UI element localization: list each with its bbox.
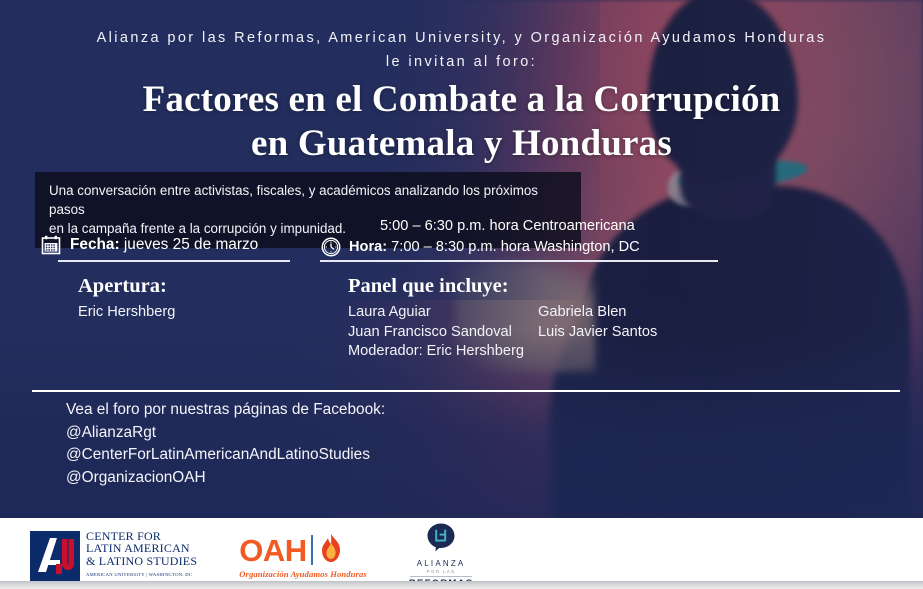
invitation-line-1: Alianza por las Reformas, American Unive… — [0, 26, 923, 50]
logo-alianza-reformas: ALIANZA POR LAS REFORMAS — [409, 522, 474, 589]
panelist: Luis Javier Santos — [538, 323, 718, 343]
facebook-handle-alianza[interactable]: @AlianzaRgt — [66, 422, 385, 445]
time-label: Hora: — [349, 239, 387, 255]
au-line-2: LATIN AMERICAN — [86, 542, 197, 555]
section-divider — [32, 390, 900, 392]
poster-content: Alianza por las Reformas, American Unive… — [0, 0, 923, 589]
au-tagline: AMERICAN UNIVERSITY | WASHINGTON, DC — [86, 569, 197, 582]
clock-icon — [320, 236, 342, 258]
apertura-speaker: Eric Hershberg — [78, 303, 175, 323]
invitation-line-2: le invitan al foro: — [0, 50, 923, 74]
panelist: Gabriela Blen — [538, 303, 718, 323]
sponsor-logos: CENTER FOR LATIN AMERICAN & LATINO STUDI… — [30, 522, 473, 589]
panel-moderator: Moderador: Eric Hershberg — [348, 342, 538, 362]
time-underline — [320, 260, 718, 262]
apertura-section: Apertura: Eric Hershberg — [78, 274, 175, 323]
event-title: Factores en el Combate a la Corrupción e… — [0, 78, 923, 166]
flame-icon — [318, 533, 344, 568]
facebook-intro: Vea el foro por nuestras páginas de Face… — [66, 399, 385, 422]
date-label: Fecha: — [70, 236, 120, 253]
apertura-heading: Apertura: — [78, 274, 175, 299]
date-underline — [58, 260, 290, 262]
date-block: Fecha: jueves 25 de marzo — [40, 234, 258, 256]
time-central: 5:00 – 6:30 p.m. hora Centroamericana — [320, 216, 740, 236]
speech-bubble-icon — [426, 522, 456, 557]
alianza-rule — [410, 576, 472, 577]
alianza-middle: POR LAS — [427, 569, 456, 574]
oah-subtitle: Organización Ayudamos Honduras — [239, 569, 367, 579]
panelist: Juan Francisco Sandoval — [348, 323, 538, 343]
oah-wordmark: OAH — [239, 535, 306, 566]
date-value: jueves 25 de marzo — [120, 236, 259, 253]
time-block: 5:00 – 6:30 p.m. hora Centroamericana — [320, 216, 740, 258]
au-line-3: & LATINO STUDIES — [86, 555, 197, 568]
invitation-header: Alianza por las Reformas, American Unive… — [0, 26, 923, 74]
panel-column-right: Gabriela Blen Luis Javier Santos — [538, 303, 718, 362]
event-title-line-2: en Guatemala y Honduras — [0, 122, 923, 166]
oah-divider — [311, 535, 313, 565]
facebook-handle-clals[interactable]: @CenterForLatinAmericanAndLatinoStudies — [66, 444, 385, 467]
footer-logo-bar: CENTER FOR LATIN AMERICAN & LATINO STUDI… — [0, 518, 923, 581]
bottom-strip — [0, 581, 923, 589]
logo-au-clals: CENTER FOR LATIN AMERICAN & LATINO STUDI… — [30, 530, 197, 582]
panelist: Laura Aguiar — [348, 303, 538, 323]
alianza-name: ALIANZA — [417, 559, 466, 568]
time-washington-row: Hora: 7:00 – 8:30 p.m. hora Washington, … — [320, 236, 740, 258]
au-monogram-icon — [30, 531, 80, 581]
panel-column-left: Laura Aguiar Juan Francisco Sandoval Mod… — [348, 303, 538, 362]
time-washington: 7:00 – 8:30 p.m. hora Washington, DC — [387, 239, 640, 255]
event-poster: Alianza por las Reformas, American Unive… — [0, 0, 923, 589]
oah-row: OAH — [239, 533, 367, 568]
panel-section: Panel que incluye: Laura Aguiar Juan Fra… — [348, 274, 718, 362]
event-description-line-1: Una conversación entre activistas, fisca… — [49, 181, 569, 219]
facebook-handle-oah[interactable]: @OrganizacionOAH — [66, 467, 385, 490]
event-title-line-1: Factores en el Combate a la Corrupción — [0, 78, 923, 122]
facebook-section: Vea el foro por nuestras páginas de Face… — [66, 399, 385, 489]
calendar-icon — [40, 234, 62, 256]
au-clals-wordmark: CENTER FOR LATIN AMERICAN & LATINO STUDI… — [86, 530, 197, 582]
date-time-section: Fecha: jueves 25 de marzo 5:00 – 6:30 p.… — [35, 216, 735, 262]
panel-heading: Panel que incluye: — [348, 274, 718, 299]
logo-oah: OAH Organización Ayudamos Honduras — [239, 533, 367, 579]
panel-columns: Laura Aguiar Juan Francisco Sandoval Mod… — [348, 303, 718, 362]
